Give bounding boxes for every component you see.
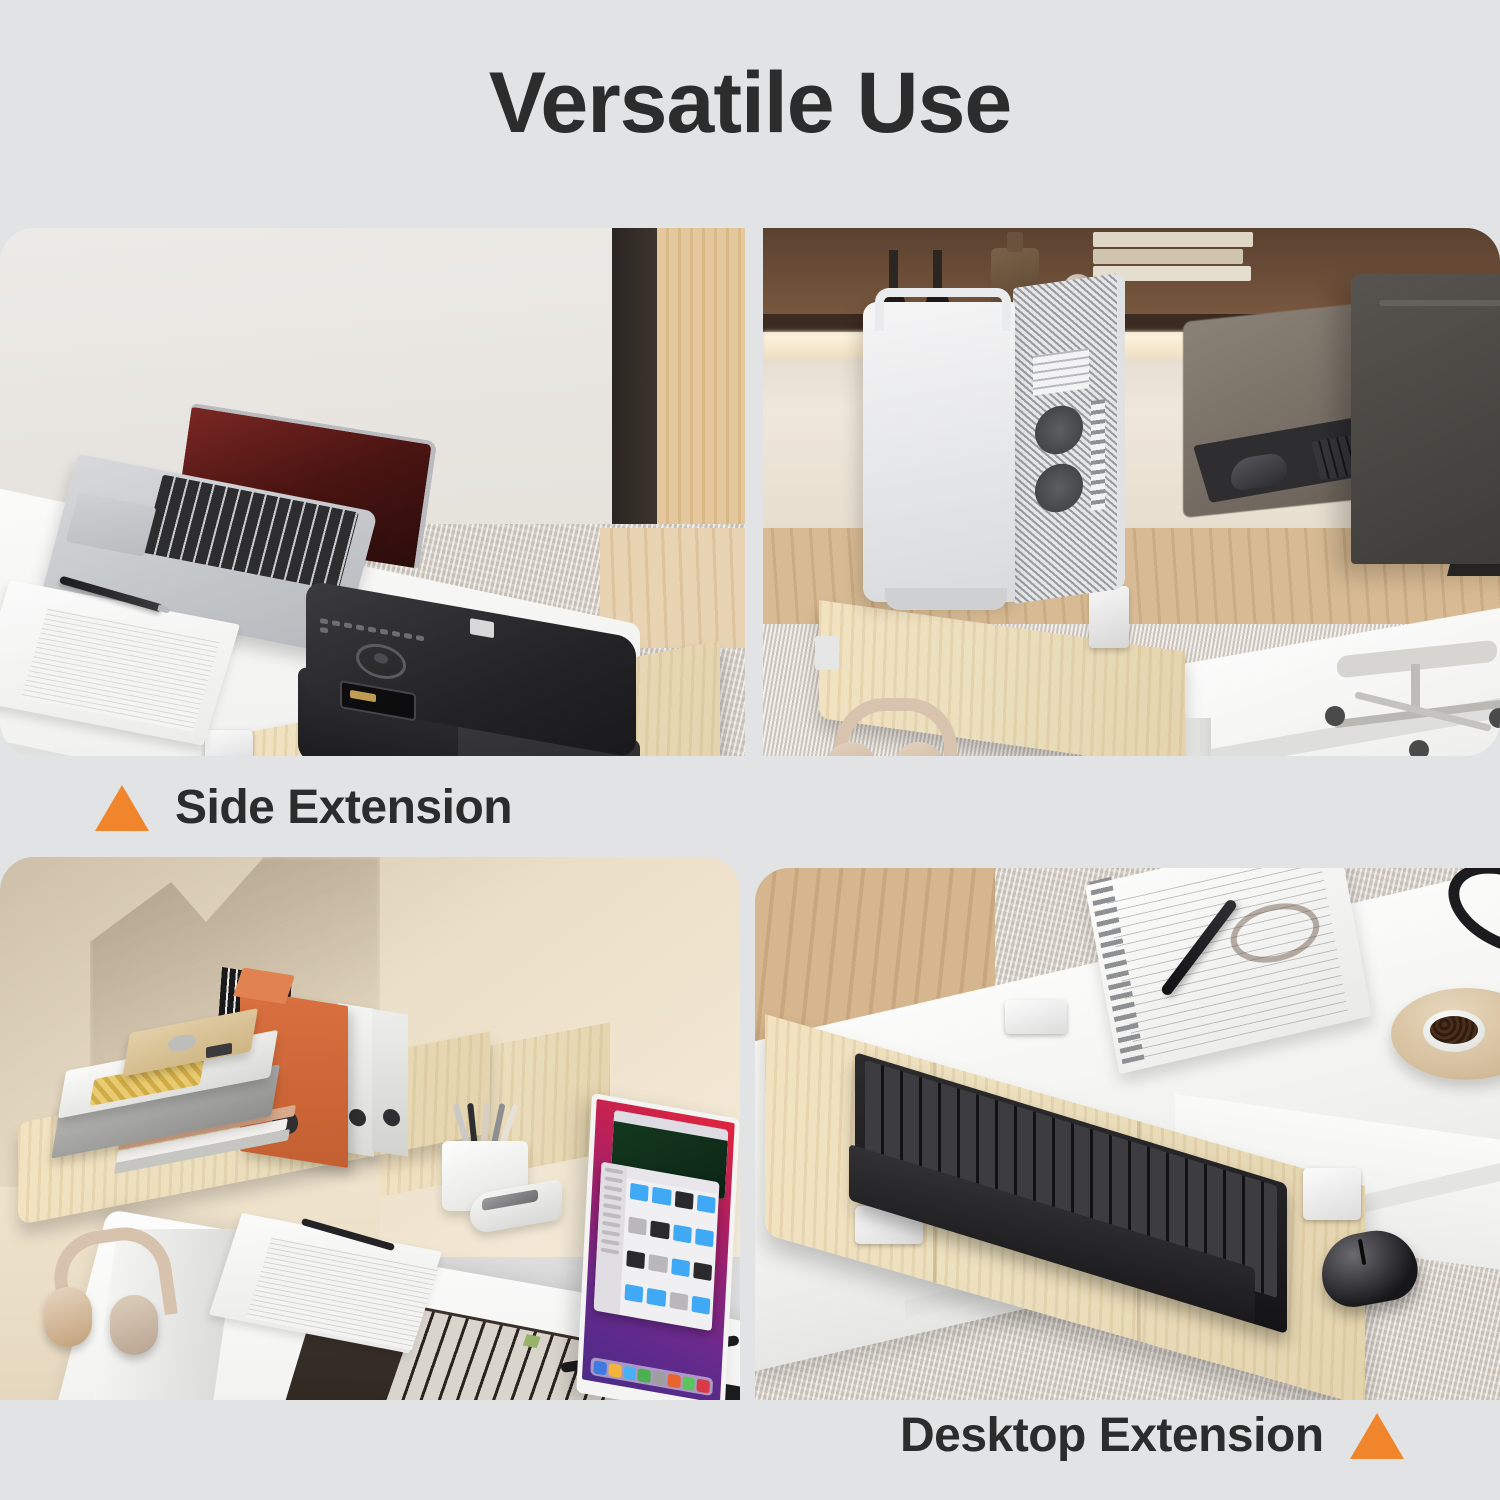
caption-desktop-extension: Desktop Extension (900, 1408, 1404, 1463)
panel-desk-organizers (0, 857, 740, 1400)
monitor-screen (582, 1099, 735, 1400)
coffee-bean-bowl (1423, 1010, 1485, 1052)
printer (298, 580, 644, 756)
tower-side-panel (863, 302, 1015, 602)
laptop-trackpad (66, 492, 157, 557)
monitor (576, 1093, 740, 1400)
macos-dock (590, 1357, 713, 1396)
panel-side-extension-tower (763, 228, 1500, 756)
tray-clamp (205, 730, 253, 756)
tower-foot (885, 588, 1007, 610)
product-feature-image: Versatile Use (0, 0, 1500, 1500)
caption-desktop-extension-label: Desktop Extension (900, 1408, 1324, 1463)
triangle-up-icon (95, 785, 149, 831)
tower-ports (1091, 399, 1105, 511)
triangle-up-icon (1350, 1413, 1404, 1459)
office-chair (1323, 648, 1500, 756)
laptop (78, 434, 408, 594)
panel-side-extension-printer (0, 228, 745, 756)
door-frame (612, 228, 657, 528)
tower-handle (875, 288, 1011, 331)
finder-sidebar (594, 1162, 628, 1315)
finder-window (594, 1162, 720, 1331)
headphones (48, 1229, 168, 1369)
computer-tower (863, 288, 1119, 618)
caption-side-extension: Side Extension (95, 780, 512, 835)
tray-clamp (1303, 1168, 1361, 1220)
magazine-file-white (372, 1009, 408, 1157)
wood-panel-wall (657, 228, 745, 546)
monitor (1351, 274, 1500, 564)
desk-leg (1183, 718, 1211, 756)
tower-expansion-slots (1033, 348, 1089, 396)
finder-icon-grid (624, 1183, 716, 1329)
keyboard (855, 1052, 1287, 1242)
tray-clamp (1005, 1000, 1067, 1034)
panel-desktop-extension-keyboard (755, 868, 1500, 1400)
page-title: Versatile Use (0, 60, 1500, 146)
caption-side-extension-label: Side Extension (175, 780, 512, 835)
headphones (825, 698, 951, 756)
tray-support-bracket (815, 636, 839, 670)
